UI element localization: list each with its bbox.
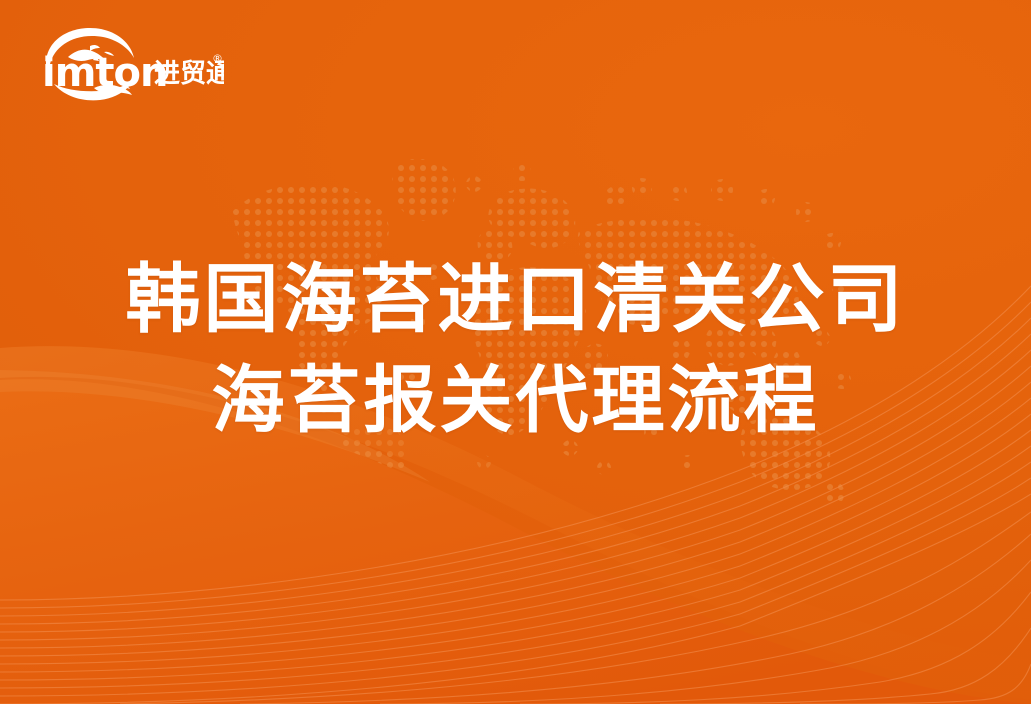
- brand-logo[interactable]: imton 进贸通 ®: [38, 24, 224, 102]
- logo-wordmark: imton: [42, 50, 167, 96]
- headline-line-2: 海苔报关代理流程: [0, 350, 1031, 452]
- headline-line-1: 韩国海苔进口清关公司: [0, 248, 1031, 350]
- headline-block: 韩国海苔进口清关公司 海苔报关代理流程: [0, 248, 1031, 452]
- registered-trademark-icon: ®: [212, 52, 223, 65]
- promo-banner: imton 进贸通 ® 韩国海苔进口清关公司 海苔报关代理流程: [0, 0, 1031, 704]
